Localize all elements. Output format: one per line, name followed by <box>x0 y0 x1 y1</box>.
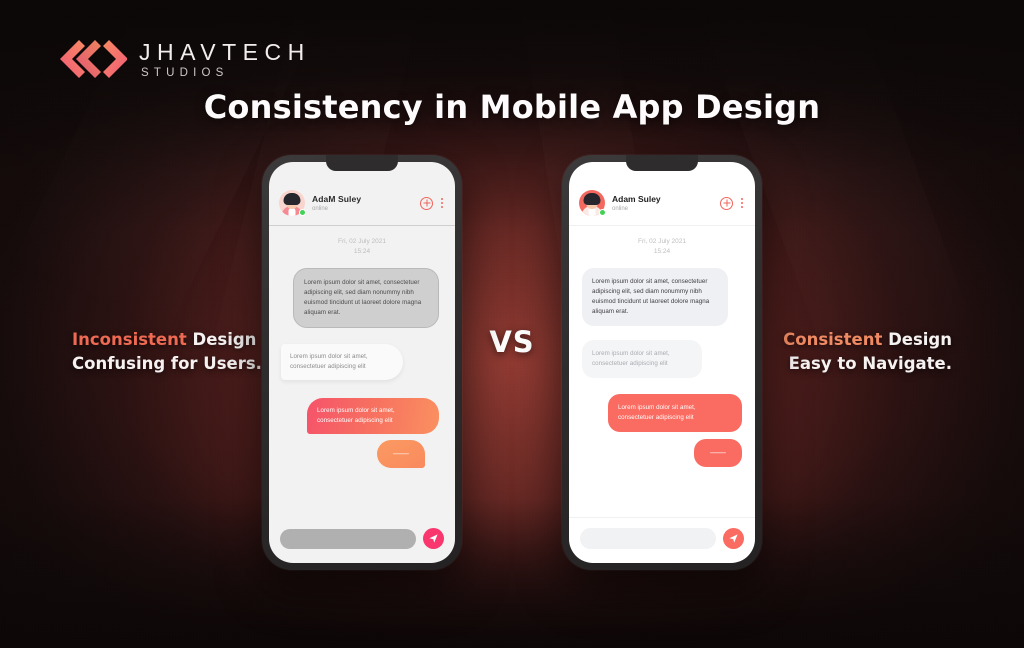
avatar-hair <box>584 193 601 205</box>
message-timestamp: Fri, 02 July 2021 15:24 <box>279 226 445 266</box>
chat-header: AdaM Suley online <box>269 162 455 226</box>
more-vertical-icon[interactable] <box>441 198 443 208</box>
plus-circle-icon[interactable] <box>420 197 433 210</box>
message-bubble-sent[interactable]: Lorem ipsum dolor sit amet, consectetuer… <box>307 398 439 434</box>
contact-status: online <box>312 206 413 212</box>
chat-header: Adam Suley online <box>569 162 755 226</box>
timestamp-date: Fri, 02 July 2021 <box>279 237 445 247</box>
message-input-field[interactable] <box>580 528 716 549</box>
phone-notch <box>626 155 698 171</box>
plus-circle-icon[interactable] <box>720 197 733 210</box>
online-status-dot-icon <box>299 209 306 216</box>
online-status-dot-icon <box>599 209 606 216</box>
page-title: Consistency in Mobile App Design <box>0 88 1024 126</box>
message-input-bar <box>569 517 755 563</box>
message-input-field[interactable] <box>280 529 416 549</box>
phone-screen: Adam Suley online Fri, 02 July 2021 15:2… <box>569 162 755 563</box>
jhavtech-chevron-logo-icon <box>55 38 127 80</box>
send-paper-plane-icon[interactable] <box>723 528 744 549</box>
message-bubble-sent-short[interactable] <box>694 439 742 467</box>
phone-notch <box>326 155 398 171</box>
brand-subtitle: STUDIOS <box>139 68 311 80</box>
phone-mockup-consistent: Adam Suley online Fri, 02 July 2021 15:2… <box>562 155 762 570</box>
more-vertical-icon[interactable] <box>741 198 743 208</box>
message-bubble-sent-short[interactable] <box>377 440 425 468</box>
message-bubble-received[interactable]: Lorem ipsum dolor sit amet, consectetuer… <box>582 340 702 378</box>
message-timestamp: Fri, 02 July 2021 15:24 <box>580 226 744 266</box>
brand-logo: JHAVTECH STUDIOS <box>55 38 311 80</box>
send-paper-plane-icon[interactable] <box>423 528 444 549</box>
header-actions <box>720 197 745 210</box>
timestamp-date: Fri, 02 July 2021 <box>580 237 744 247</box>
user-avatar[interactable] <box>579 190 605 216</box>
message-bubble-sent[interactable]: Lorem ipsum dolor sit amet, consectetuer… <box>608 394 742 432</box>
contact-name: Adam Suley <box>612 194 713 204</box>
contact-info: Adam Suley online <box>612 194 713 212</box>
phone-screen: AdaM Suley online Fri, 02 July 2021 15:2… <box>269 162 455 563</box>
brand-name: JHAVTECH <box>139 41 311 64</box>
contact-name: AdaM Suley <box>312 194 413 204</box>
vs-divider-label: VS <box>0 325 1024 359</box>
avatar-collar <box>589 208 596 216</box>
contact-info: AdaM Suley online <box>312 194 413 212</box>
message-list[interactable]: Fri, 02 July 2021 15:24 Lorem ipsum dolo… <box>269 226 455 518</box>
timestamp-time: 15:24 <box>580 247 744 257</box>
phone-mockup-inconsistent: AdaM Suley online Fri, 02 July 2021 15:2… <box>262 155 462 570</box>
timestamp-time: 15:24 <box>279 247 445 257</box>
user-avatar[interactable] <box>279 190 305 216</box>
message-bubble-received[interactable]: Lorem ipsum dolor sit amet, consectetuer… <box>582 268 728 326</box>
avatar-hair <box>284 193 301 205</box>
message-input-bar <box>269 518 455 563</box>
message-bubble-received[interactable]: Lorem ipsum dolor sit amet, consectetuer… <box>281 344 403 380</box>
contact-status: online <box>612 206 713 212</box>
header-actions <box>420 197 445 210</box>
message-bubble-received[interactable]: Lorem ipsum dolor sit amet, consectetuer… <box>293 268 439 328</box>
avatar-collar <box>289 208 296 216</box>
message-list[interactable]: Fri, 02 July 2021 15:24 Lorem ipsum dolo… <box>569 226 755 517</box>
